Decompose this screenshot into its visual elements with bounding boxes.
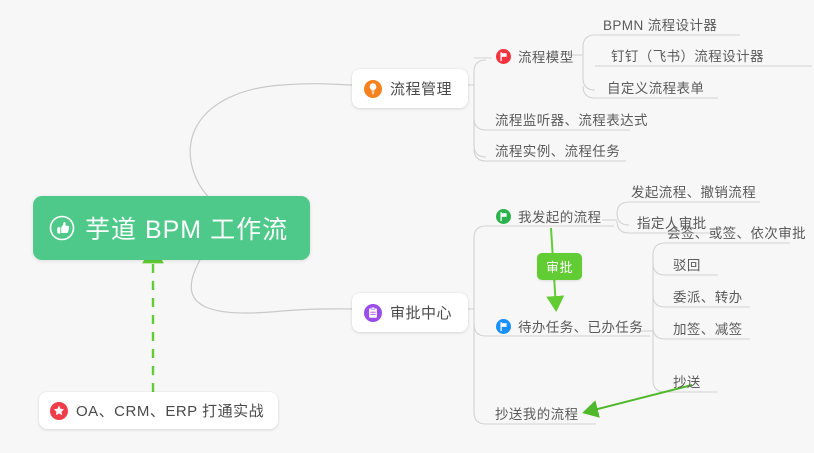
- flag-icon: [496, 209, 511, 224]
- node-custom-process-form[interactable]: 自定义流程表单: [601, 74, 710, 102]
- node-label: BPMN 流程设计器: [603, 14, 717, 34]
- node-label: 钉钉（飞书）流程设计器: [611, 45, 764, 65]
- node-label: 待办任务、已办任务: [518, 316, 643, 336]
- node-cc[interactable]: 抄送: [667, 368, 707, 396]
- node-todo-done[interactable]: 待办任务、已办任务: [492, 313, 649, 341]
- clipboard-icon: [364, 304, 382, 322]
- node-label: 流程监听器、流程表达式: [495, 109, 648, 129]
- wire-ac-to-todo: [474, 324, 486, 336]
- wire-td-to-addremove: [653, 327, 665, 339]
- annotation-label: 审批: [546, 260, 573, 275]
- node-label: 抄送我的流程: [495, 403, 578, 423]
- node-label: 我发起的流程: [518, 206, 601, 226]
- node-countersign[interactable]: 会签、或签、依次审批: [661, 219, 812, 247]
- branch-label: 审批中心: [390, 302, 452, 323]
- wire-mi-to-assignee: [617, 221, 629, 233]
- node-process-model[interactable]: 流程模型: [492, 43, 580, 71]
- node-label: 会签、或签、依次审批: [667, 222, 806, 242]
- wire-td-to-reject: [653, 263, 665, 275]
- node-delegate-transfer[interactable]: 委派、转办: [667, 283, 749, 311]
- node-integration-practice[interactable]: OA、CRM、ERP 打通实战: [39, 392, 278, 429]
- wire-td-to-delegate: [653, 295, 665, 307]
- node-dingtalk-feishu-designer[interactable]: 钉钉（飞书）流程设计器: [605, 42, 770, 70]
- wire-pm-bracket: [474, 60, 486, 157]
- root-label: 芋道 BPM 工作流: [85, 210, 288, 246]
- node-my-initiated[interactable]: 我发起的流程: [492, 203, 607, 231]
- mindmap-canvas: 芋道 BPM 工作流 流程管理 流程模型 BPMN 流程设计器 钉钉（飞书）流程: [0, 0, 814, 453]
- flag-icon: [496, 319, 511, 334]
- node-label: 自定义流程表单: [607, 77, 704, 97]
- node-cc-to-me[interactable]: 抄送我的流程: [489, 400, 584, 428]
- wire-td-bracket: [653, 243, 665, 392]
- node-label: OA、CRM、ERP 打通实战: [76, 400, 264, 421]
- node-label: 加签、减签: [673, 318, 743, 338]
- wire-ac-bracket: [474, 226, 486, 424]
- root-node[interactable]: 芋道 BPM 工作流: [33, 196, 310, 260]
- node-label: 流程实例、流程任务: [495, 140, 620, 160]
- thumbs-up-icon: [49, 215, 75, 241]
- wire-model-bracket: [583, 35, 595, 90]
- star-badge-icon: [50, 402, 68, 420]
- branch-approval-center[interactable]: 审批中心: [352, 293, 468, 332]
- node-bpmn-designer[interactable]: BPMN 流程设计器: [597, 11, 723, 39]
- node-label: 驳回: [673, 254, 701, 274]
- branch-process-management[interactable]: 流程管理: [352, 69, 468, 108]
- node-reject[interactable]: 驳回: [667, 251, 707, 279]
- flag-icon: [496, 49, 511, 64]
- branch-label: 流程管理: [390, 78, 452, 99]
- node-start-cancel[interactable]: 发起流程、撤销流程: [625, 178, 762, 206]
- wire-model-to-custom: [583, 86, 595, 98]
- node-listener-expression[interactable]: 流程监听器、流程表达式: [489, 106, 654, 134]
- wire-pm-to-instance: [474, 149, 486, 161]
- node-instance-task[interactable]: 流程实例、流程任务: [489, 137, 626, 165]
- node-label: 委派、转办: [673, 286, 743, 306]
- wire-pm-to-listener: [474, 118, 486, 130]
- node-label: 发起流程、撤销流程: [631, 181, 756, 201]
- node-add-remove-sign[interactable]: 加签、减签: [667, 315, 749, 343]
- annotation-approval-chip: 审批: [537, 253, 582, 280]
- node-label: 流程模型: [518, 46, 574, 66]
- node-label: 抄送: [673, 371, 701, 391]
- lightbulb-icon: [364, 80, 382, 98]
